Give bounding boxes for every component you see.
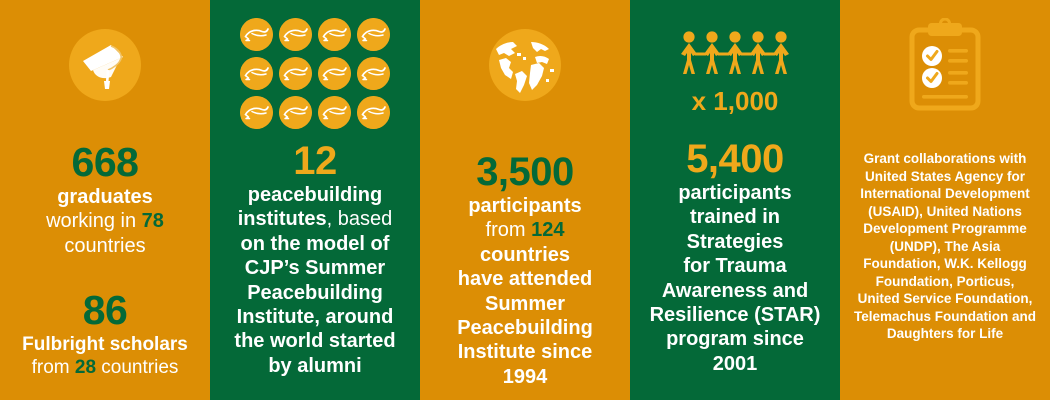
stat-number: 3,500	[436, 152, 614, 192]
panel-graduates: 668 graduates working in 78 countries 86…	[0, 0, 210, 400]
dove-icon	[279, 57, 312, 90]
stat-line: for Trauma	[644, 254, 826, 278]
stat-text: working in	[46, 210, 142, 232]
stat-number: 668	[10, 142, 200, 183]
stat-line: countries	[10, 234, 200, 258]
people-holding-hands-icon	[677, 26, 793, 80]
stat-line: 1994	[436, 365, 614, 389]
dove-icon	[357, 18, 390, 51]
stat-line: Institute, around	[224, 305, 406, 329]
stat-line: from 124	[436, 218, 614, 242]
stat-text: countries	[64, 235, 145, 257]
stat-number: 86	[10, 290, 200, 331]
stat-text: institutes	[238, 208, 327, 230]
stat-text: from	[32, 357, 75, 378]
stat-number: 5,400	[644, 139, 826, 179]
dove-icon	[318, 57, 351, 90]
stat-line: Strategies	[644, 230, 826, 254]
stat-line: participants	[436, 194, 614, 218]
stat-graduates: 668 graduates working in 78 countries	[0, 142, 210, 258]
graduation-cap-icon	[69, 29, 141, 101]
stat-line: Resilience (STAR)	[644, 303, 826, 327]
stat-highlight: 28	[75, 357, 96, 378]
dove-icon	[318, 96, 351, 129]
stat-line: institutes, based	[224, 207, 406, 231]
stat-text: participants	[678, 182, 791, 204]
stat-line: have attended	[436, 267, 614, 291]
stat-institutes: 12 peacebuilding institutes, based on th…	[210, 141, 420, 378]
dove-icon	[279, 96, 312, 129]
panel-spi-participants: 3,500 participants from 124 countries ha…	[420, 0, 630, 400]
stat-highlight: 124	[531, 219, 564, 241]
stat-line: on the model of	[224, 232, 406, 256]
stat-highlight: 78	[142, 210, 164, 232]
stat-star: 5,400 participants trained in Strategies…	[630, 139, 840, 376]
dove-icon	[318, 18, 351, 51]
stat-text: Fulbright scholars	[22, 334, 188, 355]
dove-icon-grid	[240, 18, 390, 129]
clipboard-checklist-icon	[906, 18, 984, 112]
stat-line: program since	[644, 327, 826, 351]
stat-line: Peacebuilding	[436, 316, 614, 340]
dove-icon	[240, 18, 273, 51]
dove-icon	[240, 57, 273, 90]
stat-text: , based	[327, 208, 393, 230]
stat-line: countries	[436, 243, 614, 267]
stat-line: CJP’s Summer	[224, 256, 406, 280]
panel-peacebuilding-institutes: 12 peacebuilding institutes, based on th…	[210, 0, 420, 400]
stat-fulbright: 86 Fulbright scholars from 28 countries	[0, 290, 210, 379]
dove-icon	[357, 57, 390, 90]
stat-line: from 28 countries	[10, 356, 200, 379]
dove-icon	[279, 18, 312, 51]
stat-line: trained in	[644, 205, 826, 229]
stat-text: from	[486, 219, 532, 241]
clipboard-checklist-icon-zone	[840, 0, 1050, 130]
stat-spi: 3,500 participants from 124 countries ha…	[420, 152, 630, 389]
stat-line: Summer	[436, 292, 614, 316]
globe-icon-zone	[420, 0, 630, 130]
stat-line: the world started	[224, 329, 406, 353]
stat-line: by alumni	[224, 354, 406, 378]
dove-icon	[240, 96, 273, 129]
stat-text: participants	[468, 195, 581, 217]
stat-text: peacebuilding	[248, 184, 382, 206]
panel-star-participants: x 1,000 5,400 participants trained in St…	[630, 0, 840, 400]
multiplier-label: x 1,000	[692, 86, 779, 117]
stat-line: working in 78	[10, 209, 200, 233]
stat-line: peacebuilding	[224, 183, 406, 207]
grant-collaborations-text: Grant collaborations with United States …	[840, 150, 1050, 343]
dove-icon	[357, 96, 390, 129]
stat-line: 2001	[644, 352, 826, 376]
stat-text: graduates	[57, 186, 153, 208]
graduation-cap-icon-zone	[0, 0, 210, 130]
stat-line: Fulbright scholars	[10, 333, 200, 356]
stat-line: Institute since	[436, 340, 614, 364]
stat-line: participants	[644, 181, 826, 205]
stat-line: Awareness and	[644, 279, 826, 303]
globe-icon	[487, 27, 563, 103]
panel-grant-collaborations: Grant collaborations with United States …	[840, 0, 1050, 400]
stat-text: countries	[96, 357, 178, 378]
stat-number: 12	[224, 141, 406, 181]
stat-line: Peacebuilding	[224, 281, 406, 305]
stat-line: graduates	[10, 185, 200, 209]
infographic-container: 668 graduates working in 78 countries 86…	[0, 0, 1050, 400]
